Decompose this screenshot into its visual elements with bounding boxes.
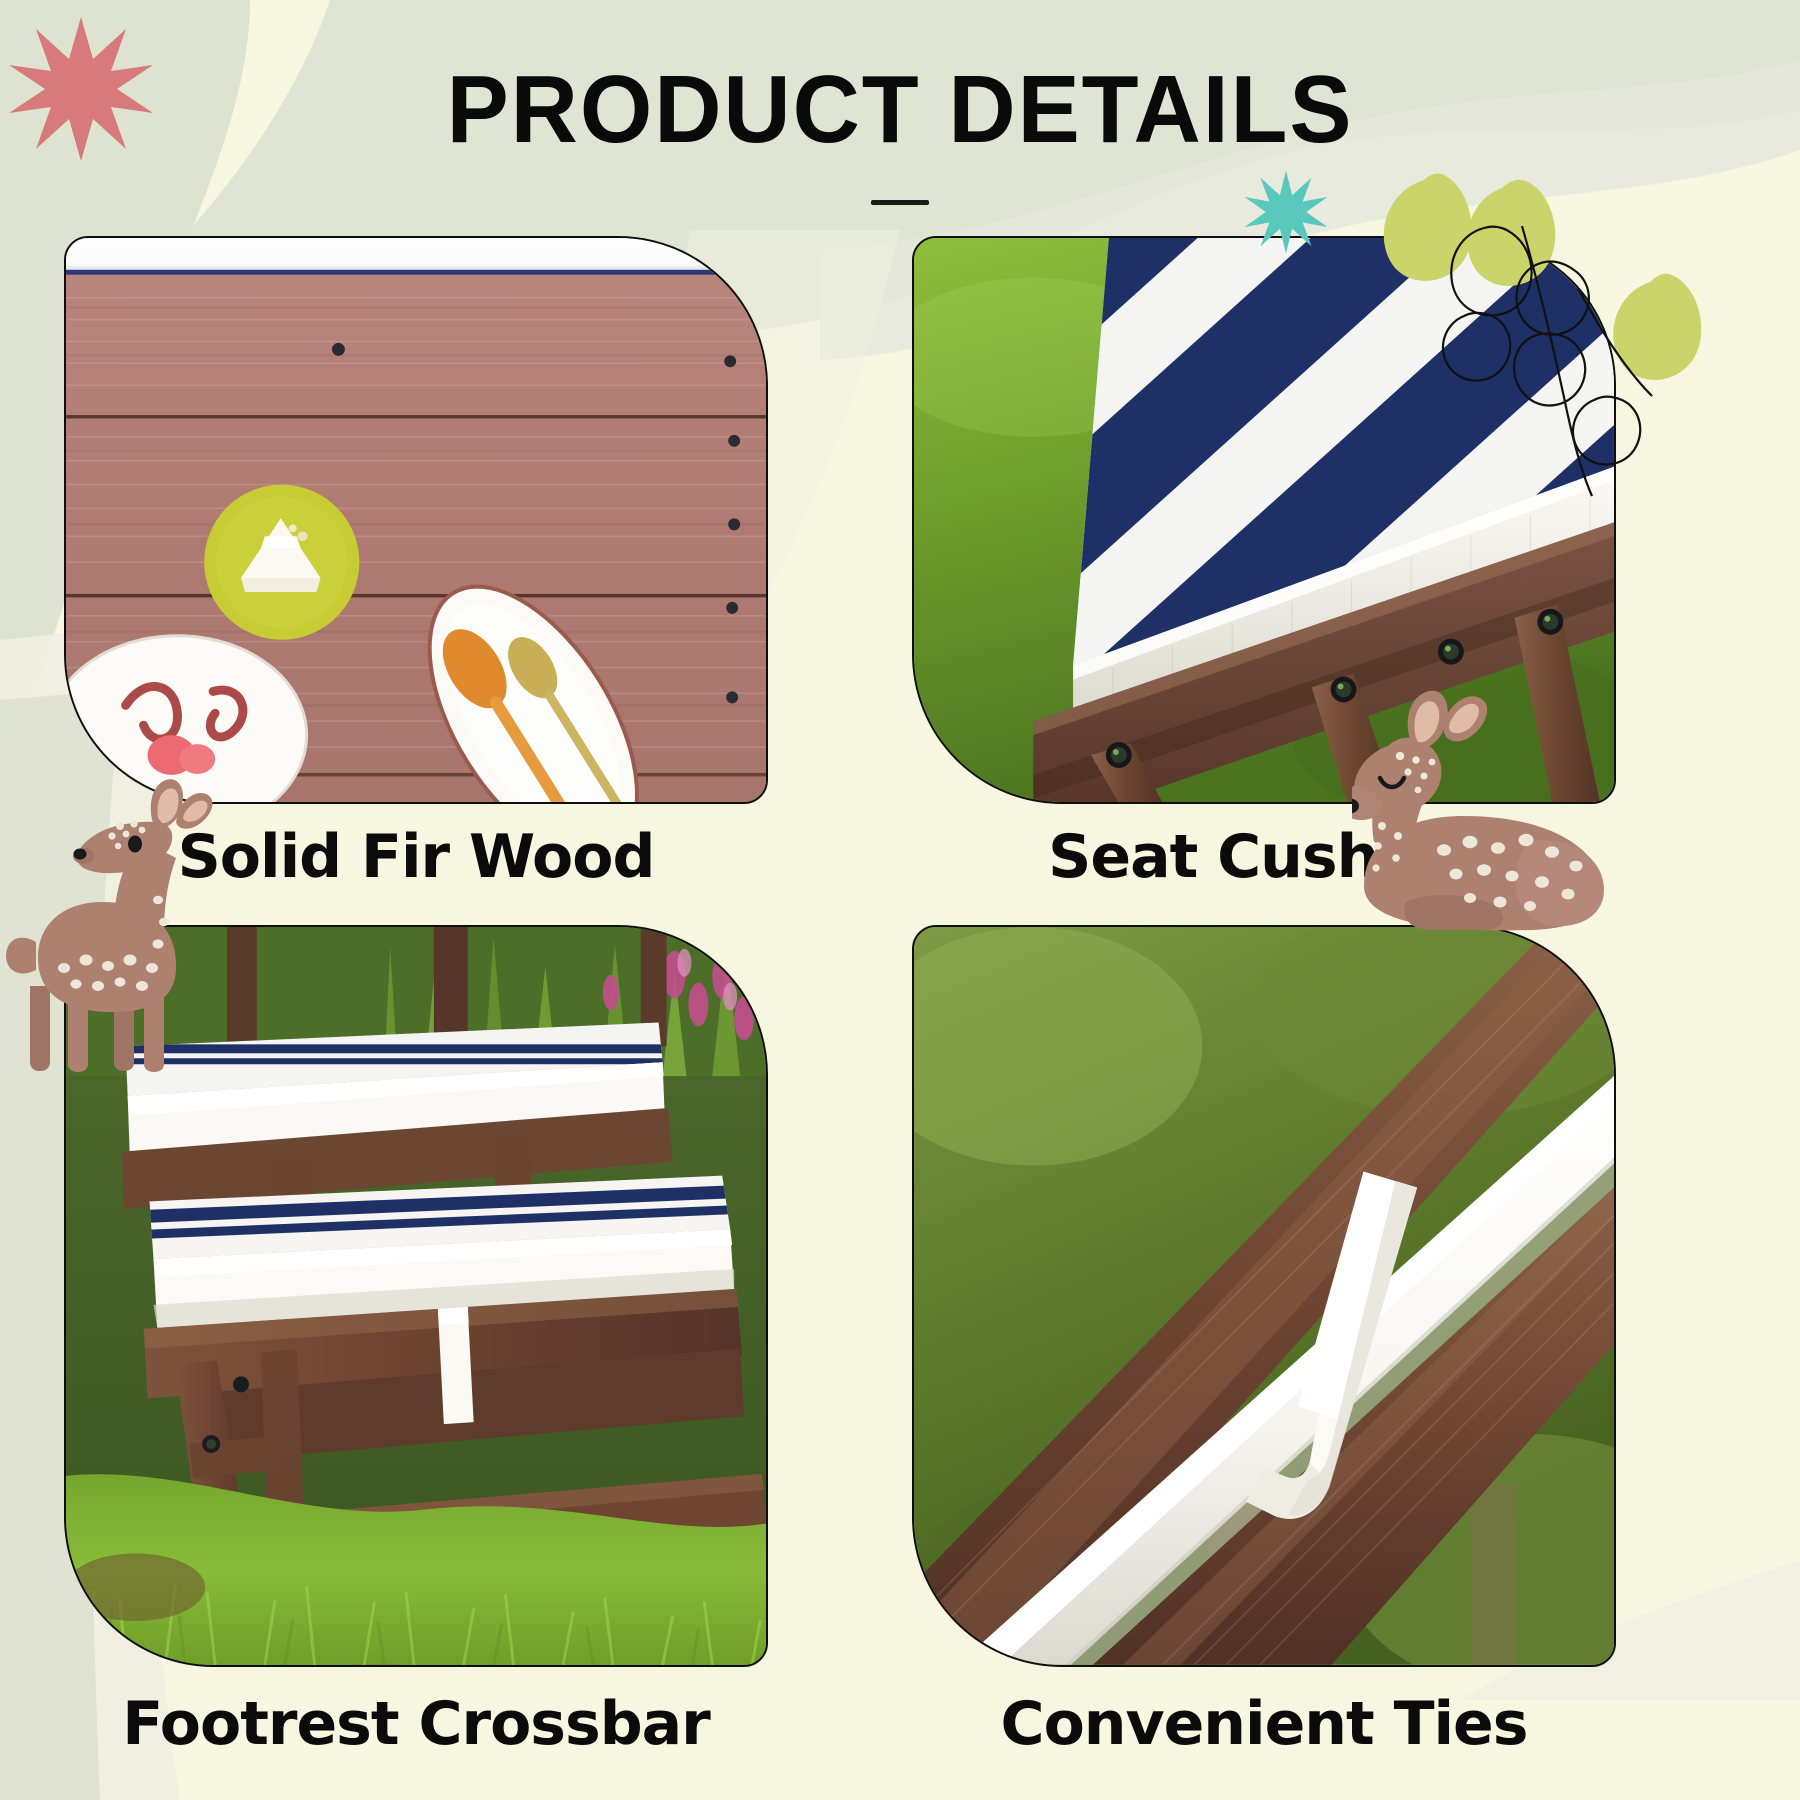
title-divider [871,200,929,205]
photo-panel-seat-cushion[interactable] [912,236,1616,804]
convenient-ties-photo [914,927,1614,1665]
caption-footrest-crossbar: Footrest Crossbar [64,1693,768,1756]
photo-panel-solid-fir-wood[interactable] [64,236,768,804]
detail-card-solid-fir-wood: Solid Fir Wood [64,236,768,889]
product-details-grid: Solid Fir Wood [64,236,1736,1756]
caption-seat-cushion: Seat Cushion [912,826,1616,889]
seat-cushion-photo [914,238,1614,803]
photo-panel-footrest-crossbar[interactable] [64,925,768,1667]
photo-panel-convenient-ties[interactable] [912,925,1616,1667]
footrest-crossbar-photo [66,927,766,1665]
detail-card-seat-cushion: Seat Cushion [912,236,1616,889]
caption-solid-fir-wood: Solid Fir Wood [64,826,768,889]
wood-tabletop-photo [66,238,766,803]
detail-card-convenient-ties: Convenient Ties [912,925,1616,1756]
caption-convenient-ties: Convenient Ties [912,1693,1616,1756]
page-header: PRODUCT DETAILS [0,62,1800,205]
page-title: PRODUCT DETAILS [27,62,1773,158]
detail-card-footrest-crossbar: Footrest Crossbar [64,925,768,1756]
